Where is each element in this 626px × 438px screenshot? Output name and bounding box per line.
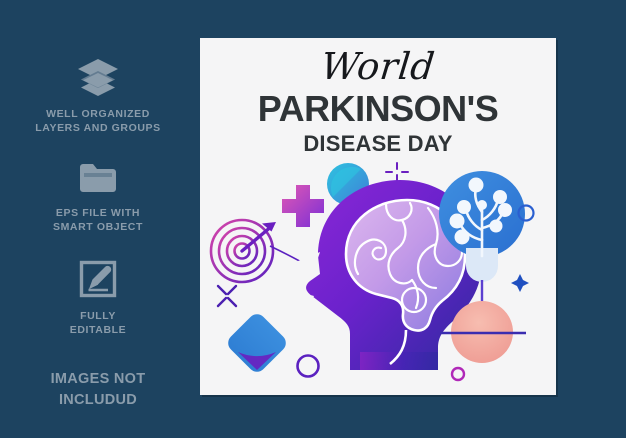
feature-item-eps: EPS FILE WITH SMART OBJECT bbox=[53, 161, 143, 234]
poster-mockup-canvas: WELL ORGANIZED LAYERS AND GROUPS EPS FIL… bbox=[0, 0, 626, 438]
sparkle-right bbox=[511, 274, 529, 292]
folder-icon bbox=[78, 161, 118, 195]
plus-shape bbox=[282, 185, 324, 227]
poster-title-script: World bbox=[200, 46, 556, 88]
sparkle-left bbox=[218, 286, 236, 306]
head-brain-illustration bbox=[200, 156, 556, 395]
magenta-ring-small bbox=[452, 368, 464, 380]
edit-pencil-icon bbox=[79, 260, 117, 298]
layers-icon bbox=[77, 58, 119, 96]
poster-card: World PARKINSON'S DISEASE DAY bbox=[200, 38, 556, 395]
feature-label-eps: EPS FILE WITH SMART OBJECT bbox=[53, 206, 143, 234]
poster-title-main: PARKINSON'S bbox=[200, 90, 556, 128]
poster-title-sub: DISEASE DAY bbox=[200, 131, 556, 157]
feature-item-layers: WELL ORGANIZED LAYERS AND GROUPS bbox=[35, 58, 161, 135]
feature-sidebar: WELL ORGANIZED LAYERS AND GROUPS EPS FIL… bbox=[0, 0, 196, 438]
blue-diamond bbox=[224, 310, 289, 375]
feature-label-editable: FULLY EDITABLE bbox=[70, 309, 127, 337]
poster-heading-group: World PARKINSON'S DISEASE DAY bbox=[200, 38, 556, 157]
target-icon bbox=[211, 220, 276, 282]
feature-item-editable: FULLY EDITABLE bbox=[70, 260, 127, 337]
images-not-included-notice: IMAGES NOT INCLUDUD bbox=[51, 369, 146, 411]
feature-label-layers: WELL ORGANIZED LAYERS AND GROUPS bbox=[35, 107, 161, 135]
sparkle-upper bbox=[386, 163, 408, 181]
